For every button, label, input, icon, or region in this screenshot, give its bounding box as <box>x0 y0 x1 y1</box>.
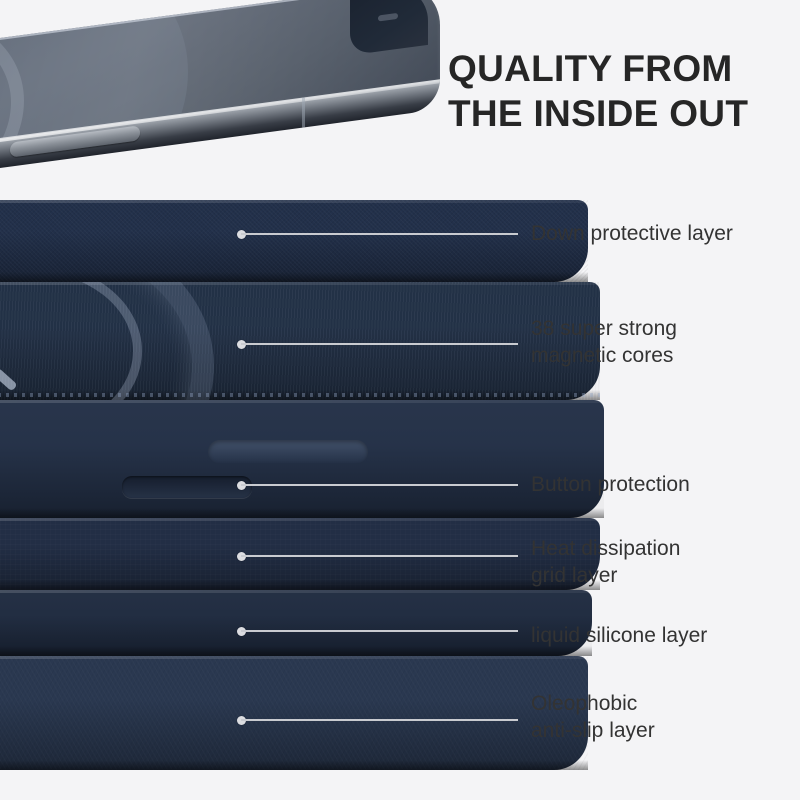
layer-magnetic-cores <box>0 282 600 400</box>
page-title-line-1: QUALITY FROM <box>448 46 788 91</box>
callout-label-liquid-silicone-layer: liquid silicone layer <box>531 623 707 650</box>
callout-line-heat-dissipation-layer <box>241 555 518 557</box>
layer-top-highlight <box>0 656 588 659</box>
magnetic-ring-inner <box>0 282 142 400</box>
layer-top-highlight <box>0 518 600 521</box>
layer-top-highlight <box>0 590 592 593</box>
layer-top-highlight <box>0 400 604 403</box>
layer-oleophobic <box>0 656 588 770</box>
callout-label-down-protective-layer: Down protective layer <box>531 221 733 248</box>
callout-line-liquid-silicone-layer <box>241 630 518 632</box>
callout-line-magnetic-cores <box>241 343 518 345</box>
page-title: QUALITY FROM THE INSIDE OUT <box>448 46 788 136</box>
callout-label-button-protection: Button protection <box>531 472 690 499</box>
earpiece-speaker-icon <box>378 13 398 22</box>
layer-heat-dissipation <box>0 518 600 590</box>
layer-drop-shadow <box>0 272 588 282</box>
callout-line-oleophobic-layer <box>241 719 518 721</box>
page-title-line-2: THE INSIDE OUT <box>448 91 788 136</box>
callout-line-down-protective-layer <box>241 233 518 235</box>
side-button-cutout <box>122 476 252 498</box>
smartphone-illustration <box>0 48 450 218</box>
layer-stitch-edge <box>0 393 600 397</box>
callout-label-oleophobic-layer: Oleophobic anti-slip layer <box>531 691 655 745</box>
layer-texture <box>0 656 588 770</box>
layer-texture <box>0 200 588 282</box>
layer-drop-shadow <box>0 760 588 770</box>
phone-body <box>0 0 440 183</box>
layer-button-protection <box>0 400 604 518</box>
callout-label-magnetic-cores: 38 super strong magnetic cores <box>531 316 677 370</box>
callout-line-button-protection <box>241 484 518 486</box>
callout-label-heat-dissipation-layer: Heat dissipation grid layer <box>531 536 680 590</box>
layer-drop-shadow <box>0 580 600 590</box>
layer-liquid-silicone <box>0 590 592 656</box>
phone-antenna-seam <box>302 97 305 127</box>
layer-down-protective <box>0 200 588 282</box>
product-infographic: QUALITY FROM THE INSIDE OUT Down protect… <box>0 0 800 800</box>
layer-top-highlight <box>0 200 588 203</box>
layer-drop-shadow <box>0 646 592 656</box>
case-lip-cutout <box>208 440 368 464</box>
layer-drop-shadow <box>0 508 604 518</box>
